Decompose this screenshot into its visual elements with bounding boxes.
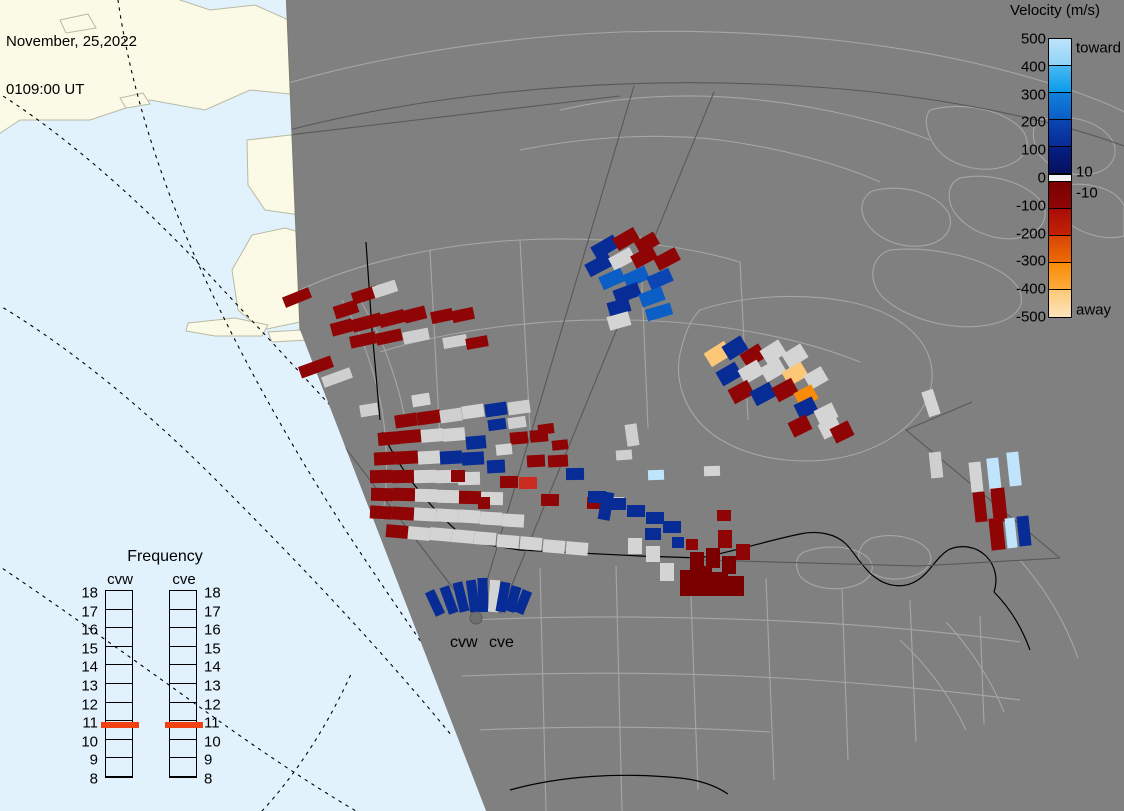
velocity-cell — [759, 358, 786, 383]
velocity-cell — [988, 517, 1005, 550]
velocity-cell — [487, 418, 506, 431]
colorbar-title: Velocity (m/s) — [990, 2, 1120, 19]
velocity-cell — [680, 570, 696, 596]
velocity-cell — [392, 506, 415, 520]
velocity-cell — [415, 489, 437, 502]
date-label: November, 25,2022 — [6, 34, 137, 50]
velocity-cell — [370, 470, 392, 483]
velocity-cell — [442, 334, 468, 349]
time-label: 0109:00 UT — [6, 82, 137, 98]
velocity-cell — [788, 414, 813, 437]
velocity-cell — [986, 457, 1001, 492]
frequency-cell — [170, 647, 196, 666]
frequency-tick-cvw-16: 16 — [81, 622, 98, 639]
velocity-cell — [645, 528, 661, 540]
velocity-cell — [439, 408, 463, 424]
site-label-cve: cve — [489, 634, 514, 652]
velocity-cell — [663, 521, 681, 533]
frequency-cell — [106, 684, 132, 703]
frequency-cell — [106, 758, 132, 777]
frequency-cell — [106, 628, 132, 647]
velocity-cell — [375, 328, 403, 345]
velocity-cell — [349, 331, 377, 348]
velocity-cell — [440, 450, 463, 464]
velocity-cell — [477, 578, 488, 612]
velocity-cell — [542, 539, 565, 554]
velocity-cell — [465, 335, 489, 350]
velocity-cell — [718, 530, 732, 548]
velocity-cell — [972, 491, 987, 522]
colorbar-tick--500: -500 — [1016, 309, 1046, 326]
velocity-cell — [451, 307, 475, 323]
colorbar-tick--400: -400 — [1016, 281, 1046, 298]
velocity-cell — [507, 416, 526, 429]
colorbar-band--200-to--300 — [1049, 236, 1071, 263]
velocity-cell — [414, 507, 437, 521]
velocity-cell — [625, 423, 640, 446]
frequency-tick-cve-12: 12 — [204, 696, 221, 713]
frequency-tick-cve-13: 13 — [204, 678, 221, 695]
colorbar-tick--100: -100 — [1016, 197, 1046, 214]
velocity-cell — [420, 428, 443, 443]
frequency-cell — [106, 665, 132, 684]
velocity-cell — [696, 566, 712, 596]
velocity-cell — [374, 451, 397, 465]
velocity-cell — [429, 527, 452, 542]
velocity-cell — [672, 537, 684, 548]
colorbar-band--100-to--200 — [1049, 209, 1071, 236]
velocity-cell — [411, 393, 431, 408]
colorbar-band-300-to-200 — [1049, 93, 1071, 120]
frequency-tick-cve-18: 18 — [204, 585, 221, 602]
colorbar-tick-100: 100 — [1021, 142, 1046, 159]
velocity-cell — [552, 439, 569, 451]
frequency-cell — [170, 684, 196, 703]
velocity-cell — [541, 494, 559, 506]
timestamp-block: November, 25,2022 0109:00 UT — [6, 2, 137, 130]
colorbar-zero-upper-label: 10 — [1076, 164, 1093, 181]
velocity-cell — [704, 466, 720, 477]
velocity-cell — [378, 309, 406, 328]
velocity-cell — [750, 382, 777, 406]
frequency-tick-cve-17: 17 — [204, 603, 221, 620]
velocity-cell — [646, 512, 664, 524]
velocity-cell — [736, 544, 750, 560]
frequency-tick-cvw-15: 15 — [81, 640, 98, 657]
frequency-cell — [170, 740, 196, 759]
colorbar-band-100-to-10 — [1049, 147, 1071, 174]
frequency-cell — [170, 591, 196, 610]
velocity-cell — [706, 548, 720, 568]
frequency-tick-cve-16: 16 — [204, 622, 221, 639]
velocity-cell — [478, 497, 490, 509]
frequency-marker-cvw — [101, 722, 139, 728]
frequency-cell — [170, 758, 196, 777]
colorbar-band--10-to--100 — [1049, 182, 1071, 209]
frequency-tick-cve-10: 10 — [204, 733, 221, 750]
velocity-cell — [451, 470, 465, 482]
frequency-cell — [170, 628, 196, 647]
velocity-cell — [321, 367, 353, 388]
velocity-cell — [921, 389, 940, 417]
velocity-cell — [414, 470, 436, 483]
velocity-cell — [510, 431, 529, 445]
frequency-tick-cvw-13: 13 — [81, 678, 98, 695]
colorbar-tick-500: 500 — [1021, 31, 1046, 48]
velocity-cell — [436, 508, 459, 522]
colorbar-tick-300: 300 — [1021, 86, 1046, 103]
frequency-cell — [106, 703, 132, 722]
frequency-bar-cve-scale: 18171615141312111098 — [169, 590, 197, 778]
frequency-tick-cve-11: 11 — [204, 715, 220, 732]
frequency-title: Frequency — [85, 548, 245, 566]
velocity-cell — [462, 451, 485, 465]
velocity-cell — [458, 509, 481, 523]
velocity-cell — [442, 427, 465, 442]
velocity-cell — [519, 536, 542, 551]
colorbar-band-200-to-100 — [1049, 120, 1071, 147]
velocity-cell — [537, 423, 554, 435]
velocity-cell — [418, 450, 441, 464]
colorbar-band--300-to--400 — [1049, 263, 1071, 290]
velocity-cell — [484, 402, 508, 418]
velocity-cell — [377, 431, 400, 446]
frequency-cell — [170, 703, 196, 722]
superdarn-map-view: November, 25,2022 0109:00 UT Velocity (m… — [0, 0, 1124, 811]
frequency-tick-cvw-8: 8 — [90, 771, 98, 788]
velocity-cell — [461, 404, 485, 420]
velocity-cell — [1006, 451, 1021, 486]
colorbar-tick--200: -200 — [1016, 225, 1046, 242]
frequency-cell — [170, 665, 196, 684]
colorbar-zero-gap — [1049, 174, 1071, 182]
velocity-cell — [519, 477, 537, 489]
velocity-cell — [430, 308, 454, 324]
velocity-cell — [648, 470, 664, 481]
frequency-cell — [106, 610, 132, 629]
frequency-tick-cvw-14: 14 — [81, 659, 98, 676]
frequency-cell — [106, 591, 132, 610]
frequency-tick-cvw-10: 10 — [81, 733, 98, 750]
frequency-legend: Frequency cvw 18171615141312111098 cve 1… — [85, 545, 245, 790]
frequency-tick-cvw-17: 17 — [81, 603, 98, 620]
velocity-cell — [459, 491, 481, 504]
velocity-cell — [402, 328, 430, 345]
velocity-cell — [359, 403, 379, 418]
frequency-tick-cve-8: 8 — [204, 771, 212, 788]
frequency-tick-cvw-9: 9 — [90, 752, 98, 769]
frequency-bar-cvw-scale: 18171615141312111098 — [105, 590, 133, 778]
velocity-cell — [372, 280, 399, 299]
velocity-cell — [929, 451, 944, 478]
velocity-cell — [548, 454, 569, 467]
colorbar-strip — [1048, 38, 1072, 318]
frequency-cell — [106, 740, 132, 759]
colorbar-tick--300: -300 — [1016, 253, 1046, 270]
velocity-cell — [566, 468, 584, 480]
velocity-colorbar: Velocity (m/s) 5004003002001000-100-200-… — [990, 0, 1124, 340]
velocity-cell — [371, 488, 393, 501]
velocity-cell — [385, 524, 408, 539]
frequency-bar-cvw-label: cvw — [105, 571, 135, 588]
velocity-cell — [968, 461, 983, 492]
velocity-cell — [712, 572, 728, 596]
frequency-cell — [106, 647, 132, 666]
frequency-tick-cvw-12: 12 — [81, 696, 98, 713]
velocity-cell — [370, 505, 393, 519]
velocity-cell — [660, 563, 674, 581]
velocity-cell — [500, 476, 518, 488]
velocity-cell — [416, 409, 442, 425]
velocity-cell — [403, 306, 427, 324]
velocity-cell — [1004, 518, 1017, 549]
frequency-bar-cve-label: cve — [169, 571, 199, 588]
velocity-cell — [496, 534, 519, 549]
velocity-cell — [616, 449, 633, 460]
colorbar-band-500-to-400 — [1049, 39, 1071, 66]
velocity-cell — [394, 413, 418, 429]
frequency-tick-cvw-18: 18 — [81, 585, 98, 602]
velocity-cell — [487, 460, 506, 474]
frequency-tick-cve-14: 14 — [204, 659, 221, 676]
velocity-cell — [628, 538, 642, 554]
frequency-cell — [170, 610, 196, 629]
frequency-tick-cve-9: 9 — [204, 752, 212, 769]
velocity-cell — [502, 513, 525, 527]
velocity-cell — [451, 529, 474, 544]
velocity-cell — [507, 400, 531, 416]
velocity-cell — [407, 526, 430, 541]
colorbar-tick-0: 0 — [1038, 170, 1046, 187]
velocity-cell — [565, 541, 588, 556]
velocity-cell — [495, 443, 512, 456]
velocity-cell — [1016, 515, 1031, 546]
velocity-cell — [398, 429, 421, 444]
velocity-cell — [715, 362, 742, 387]
colorbar-away-label: away — [1076, 302, 1111, 319]
velocity-cell — [480, 511, 503, 525]
velocity-cell — [737, 360, 764, 385]
colorbar-zero-lower-label: -10 — [1076, 185, 1098, 202]
velocity-cell — [396, 450, 419, 464]
colorbar-tick-400: 400 — [1021, 58, 1046, 75]
velocity-cell — [690, 552, 704, 570]
colorbar-band--400-to--500 — [1049, 290, 1071, 317]
colorbar-tick-200: 200 — [1021, 114, 1046, 131]
velocity-cell — [527, 455, 546, 468]
velocity-cell — [330, 318, 355, 336]
velocity-cell — [717, 510, 731, 521]
velocity-cell — [437, 490, 459, 503]
frequency-bar-cvw: cvw 18171615141312111098 — [105, 571, 135, 778]
velocity-cell — [990, 487, 1007, 522]
velocity-cell — [722, 556, 736, 574]
frequency-marker-cve — [165, 722, 203, 728]
site-label-cvw: cvw — [450, 634, 478, 652]
colorbar-toward-label: toward — [1076, 40, 1121, 57]
velocity-cell — [465, 435, 486, 450]
velocity-cell — [653, 247, 681, 271]
frequency-tick-cvw-11: 11 — [82, 715, 98, 732]
colorbar-band-400-to-300 — [1049, 66, 1071, 93]
velocity-cell — [627, 505, 645, 517]
velocity-cell — [646, 546, 660, 562]
velocity-cell — [393, 488, 415, 501]
frequency-bar-cve: cve 18171615141312111098 — [169, 571, 199, 778]
velocity-cell — [392, 470, 414, 483]
velocity-cell — [282, 287, 312, 308]
frequency-tick-cve-15: 15 — [204, 640, 221, 657]
velocity-cell — [728, 576, 744, 596]
velocity-cell — [473, 531, 496, 546]
velocity-cell — [686, 539, 698, 550]
